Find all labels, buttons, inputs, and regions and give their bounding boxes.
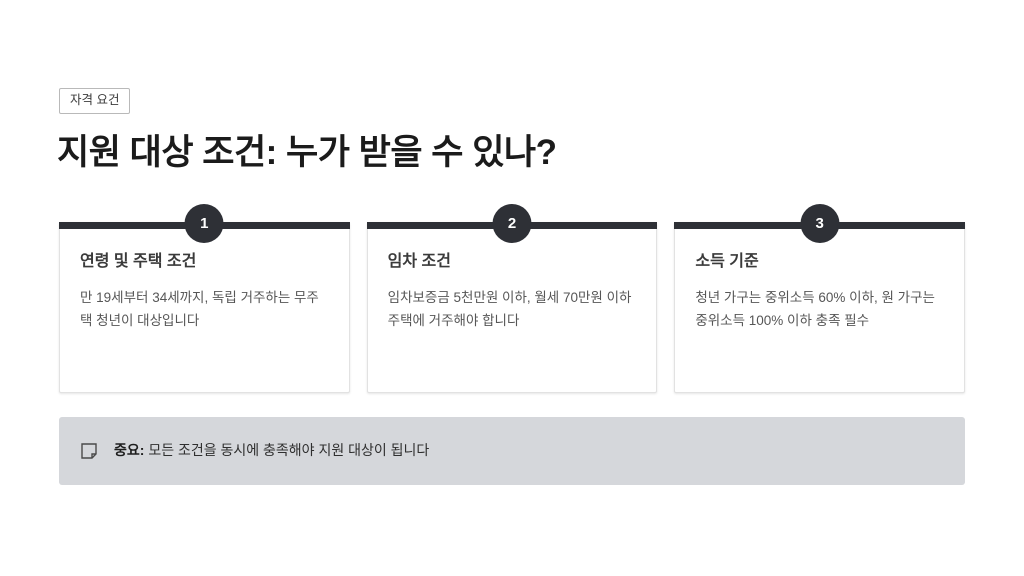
- card-heading: 임차 조건: [388, 252, 637, 273]
- important-note-label: 중요:: [114, 442, 144, 458]
- card-body-text: 청년 가구는 중위소득 60% 이하, 원 가구는 중위소득 100% 이하 충…: [695, 286, 944, 333]
- important-note-body: 모든 조건을 동시에 충족해야 지원 대상이 됩니다: [148, 442, 429, 458]
- condition-cards-row: 1 연령 및 주택 조건 만 19세부터 34세까지, 독립 거주하는 무주택 …: [59, 222, 965, 393]
- condition-card-3: 3 소득 기준 청년 가구는 중위소득 60% 이하, 원 가구는 중위소득 1…: [674, 222, 965, 393]
- slide-canvas: 자격 요건 지원 대상 조건: 누가 받을 수 있나? 1 연령 및 주택 조건…: [0, 0, 1024, 576]
- important-note-bar: 중요: 모든 조건을 동시에 충족해야 지원 대상이 됩니다: [59, 417, 965, 485]
- condition-card-2: 2 임차 조건 임차보증금 5천만원 이하, 월세 70만원 이하 주택에 거주…: [367, 222, 658, 393]
- card-body-text: 임차보증금 5천만원 이하, 월세 70만원 이하 주택에 거주해야 합니다: [388, 286, 637, 333]
- step-number-badge: 3: [800, 204, 839, 243]
- card-body-text: 만 19세부터 34세까지, 독립 거주하는 무주택 청년이 대상입니다: [80, 286, 329, 333]
- note-icon: [81, 443, 97, 459]
- step-number-badge: 2: [493, 204, 532, 243]
- important-note-text: 중요: 모든 조건을 동시에 충족해야 지원 대상이 됩니다: [114, 441, 429, 461]
- condition-card-1: 1 연령 및 주택 조건 만 19세부터 34세까지, 독립 거주하는 무주택 …: [59, 222, 350, 393]
- card-heading: 소득 기준: [695, 252, 944, 273]
- card-heading: 연령 및 주택 조건: [80, 252, 329, 273]
- eyebrow-badge: 자격 요건: [59, 88, 130, 114]
- page-title: 지원 대상 조건: 누가 받을 수 있나?: [57, 124, 556, 175]
- step-number-badge: 1: [185, 204, 224, 243]
